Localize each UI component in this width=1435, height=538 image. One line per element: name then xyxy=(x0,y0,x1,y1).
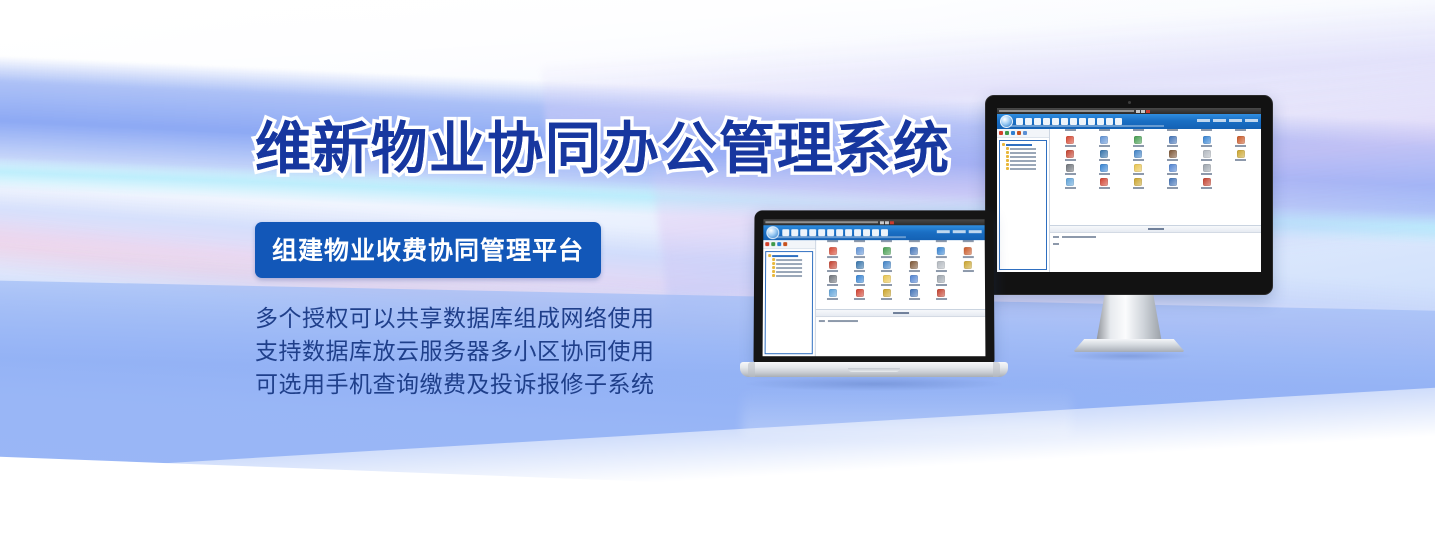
laptop-shadow xyxy=(746,377,1002,391)
module-icon-label xyxy=(909,298,920,300)
ribbon-link xyxy=(1213,119,1226,122)
module-icon xyxy=(910,289,918,297)
module-icon-label xyxy=(1065,145,1076,147)
ribbon-tab xyxy=(791,229,798,236)
module-icon-label xyxy=(1099,145,1110,147)
module-icon-cell[interactable] xyxy=(1157,178,1189,189)
add-icon xyxy=(1005,131,1009,135)
module-icon-cell[interactable] xyxy=(847,289,872,300)
ribbon-tab xyxy=(1070,118,1077,125)
module-icon xyxy=(1169,136,1177,144)
module-icon-label xyxy=(881,256,892,258)
module-icon-label xyxy=(1133,145,1144,147)
module-icon xyxy=(910,247,918,255)
tree-item xyxy=(768,262,810,265)
ribbon-link xyxy=(953,230,966,233)
module-icon-cell[interactable] xyxy=(901,289,926,300)
module-icon xyxy=(937,289,945,297)
laptop-app-window xyxy=(763,219,986,356)
module-icon-label xyxy=(1201,187,1212,189)
ribbon-link xyxy=(1197,119,1210,122)
module-icon-cell[interactable] xyxy=(1054,136,1086,147)
module-icon-cell[interactable] xyxy=(1122,136,1154,147)
ribbon-tab xyxy=(872,229,879,236)
module-icon xyxy=(1134,164,1142,172)
module-icon-cell xyxy=(1225,164,1257,175)
app-main-panel xyxy=(816,240,986,356)
ribbon-tab xyxy=(782,229,789,236)
module-icon-label xyxy=(936,256,947,258)
module-icon-cell[interactable] xyxy=(1088,150,1120,161)
background-bottom-white-strip xyxy=(0,494,1435,538)
module-icon-grid[interactable] xyxy=(816,242,985,309)
module-icon-label xyxy=(1167,145,1178,147)
module-icon-cell[interactable] xyxy=(820,261,845,272)
window-controls[interactable] xyxy=(880,221,894,224)
module-icon xyxy=(1100,136,1108,144)
module-icon-cell xyxy=(1157,192,1189,203)
list-row xyxy=(1050,233,1261,240)
device-mockup-group xyxy=(740,95,1210,415)
ribbon-right-links[interactable] xyxy=(937,230,982,233)
module-icon-label xyxy=(936,298,947,300)
desktop-monitor xyxy=(985,95,1273,295)
module-icon-label xyxy=(1201,145,1212,147)
module-icon-label xyxy=(1167,173,1178,175)
ribbon-tab xyxy=(845,229,852,236)
ribbon-right-links[interactable] xyxy=(1197,119,1258,122)
app-body xyxy=(997,129,1261,272)
close-icon xyxy=(1146,110,1150,113)
app-body xyxy=(763,240,986,356)
module-icon-cell[interactable] xyxy=(1225,150,1257,161)
edit-icon xyxy=(1011,131,1015,135)
module-icon-cell[interactable] xyxy=(820,275,845,286)
monitor-stand-neck xyxy=(1096,295,1162,343)
module-icon-cell[interactable] xyxy=(1054,178,1086,189)
ribbon-tab xyxy=(1097,118,1104,125)
module-icon xyxy=(829,289,837,297)
laptop-trackpad-notch xyxy=(848,368,900,372)
ribbon-tab xyxy=(827,229,834,236)
monitor-chin xyxy=(986,272,1272,294)
module-icon xyxy=(1203,136,1211,144)
close-icon xyxy=(890,221,894,224)
ribbon-tab xyxy=(818,229,825,236)
module-icon xyxy=(856,275,864,283)
ribbon-link xyxy=(1229,119,1242,122)
module-icon-label xyxy=(827,298,838,300)
module-icon xyxy=(883,275,891,283)
ribbon-tab-strip[interactable] xyxy=(782,229,888,236)
module-icon-label xyxy=(827,284,838,286)
add-icon xyxy=(771,242,775,246)
module-icon xyxy=(1134,136,1142,144)
module-icon-cell[interactable] xyxy=(847,261,872,272)
module-icon-cell[interactable] xyxy=(956,247,981,258)
tree-item xyxy=(768,274,810,277)
minimize-icon xyxy=(880,221,884,224)
module-icon-label xyxy=(1167,159,1178,161)
list-row xyxy=(816,317,985,324)
module-icon-cell[interactable] xyxy=(929,261,954,272)
delete-icon xyxy=(1017,131,1021,135)
ribbon-tab xyxy=(881,229,888,236)
sidebar-toolbar[interactable] xyxy=(997,129,1049,138)
module-icon xyxy=(1169,150,1177,158)
module-icon-label xyxy=(1065,159,1076,161)
module-icon-cell[interactable] xyxy=(820,247,845,258)
module-icon-cell[interactable] xyxy=(874,289,899,300)
module-icon-cell xyxy=(956,289,981,300)
module-icon xyxy=(910,261,918,269)
monitor-bezel xyxy=(985,95,1273,295)
module-icon-label xyxy=(1167,187,1178,189)
expand-icon xyxy=(1023,131,1027,135)
module-icon xyxy=(1237,150,1245,158)
module-icon-label xyxy=(963,270,974,272)
module-icon-label xyxy=(827,256,838,258)
module-icon xyxy=(856,247,864,255)
module-icon-cell[interactable] xyxy=(1122,150,1154,161)
ribbon-tab xyxy=(854,229,861,236)
module-icon-cell[interactable] xyxy=(1122,164,1154,175)
module-icon xyxy=(1134,178,1142,186)
module-icon xyxy=(883,261,891,269)
tree-item xyxy=(1002,143,1044,146)
module-icon xyxy=(937,275,945,283)
ribbon-subtitle xyxy=(777,236,905,238)
module-icon xyxy=(1066,164,1074,172)
module-icon-cell[interactable] xyxy=(901,247,926,258)
webcam-icon xyxy=(1128,101,1131,104)
module-icon-label xyxy=(854,256,865,258)
module-icon-label xyxy=(1235,145,1246,147)
module-icon xyxy=(937,261,945,269)
ribbon-tab xyxy=(809,229,816,236)
module-icon-cell[interactable] xyxy=(1191,136,1223,147)
tree-item xyxy=(768,254,810,257)
module-icon-label xyxy=(854,270,865,272)
app-ribbon-toolbar[interactable] xyxy=(997,114,1261,129)
module-icon-cell[interactable] xyxy=(847,247,872,258)
ribbon-link xyxy=(1245,119,1258,122)
module-icon-cell[interactable] xyxy=(1191,150,1223,161)
ribbon-tab xyxy=(836,229,843,236)
module-icon-label xyxy=(1201,173,1212,175)
list-header xyxy=(816,310,985,317)
laptop-screen xyxy=(763,219,986,356)
module-icon xyxy=(883,247,891,255)
window-controls[interactable] xyxy=(1136,110,1150,113)
module-icon xyxy=(964,247,972,255)
module-icon-cell[interactable] xyxy=(874,247,899,258)
ribbon-tab xyxy=(1115,118,1122,125)
module-icon xyxy=(1066,150,1074,158)
module-icon xyxy=(1100,150,1108,158)
module-icon-label xyxy=(1065,173,1076,175)
module-icon-label xyxy=(1065,187,1076,189)
module-icon xyxy=(829,247,837,255)
ribbon-tab xyxy=(1034,118,1041,125)
module-icon-cell[interactable] xyxy=(1191,164,1223,175)
module-icon xyxy=(829,261,837,269)
tree-item xyxy=(768,266,810,269)
module-icon-cell[interactable] xyxy=(874,275,899,286)
module-icon-label xyxy=(881,284,892,286)
module-icon-cell xyxy=(1191,192,1223,203)
module-icon-cell[interactable] xyxy=(1088,136,1120,147)
app-main-panel xyxy=(1050,129,1261,272)
maximize-icon xyxy=(1141,110,1145,113)
ribbon-link xyxy=(937,230,950,233)
module-icon-label xyxy=(909,284,920,286)
module-icon-label xyxy=(963,256,974,258)
promo-banner: 维新物业协同办公管理系统 维新物业协同办公管理系统 组建物业收费协同管理平台 多… xyxy=(0,0,1435,538)
app-bottom-list xyxy=(1050,225,1261,272)
module-icon-cell xyxy=(956,275,981,286)
tree-item xyxy=(1002,159,1044,162)
tree-item xyxy=(768,258,810,261)
module-icon-cell[interactable] xyxy=(929,275,954,286)
module-icon-cell[interactable] xyxy=(1054,150,1086,161)
module-icon-cell[interactable] xyxy=(1054,164,1086,175)
module-icon-cell xyxy=(1122,192,1154,203)
laptop-lid xyxy=(753,210,994,363)
module-icon-cell[interactable] xyxy=(1191,178,1223,189)
ribbon-tab xyxy=(1079,118,1086,125)
ribbon-subtitle xyxy=(1011,125,1164,127)
community-tree[interactable] xyxy=(765,251,814,354)
ribbon-tab xyxy=(1043,118,1050,125)
module-icon-label xyxy=(1133,159,1144,161)
ribbon-tab xyxy=(1088,118,1095,125)
tree-item xyxy=(1002,155,1044,158)
module-icon-cell[interactable] xyxy=(1088,178,1120,189)
list-header xyxy=(1050,226,1261,233)
module-icon-label xyxy=(1133,187,1144,189)
module-icon-cell[interactable] xyxy=(1157,150,1189,161)
module-icon xyxy=(856,261,864,269)
module-icon-cell[interactable] xyxy=(847,275,872,286)
module-icon-label xyxy=(1235,159,1246,161)
ribbon-tab xyxy=(800,229,807,236)
tree-item xyxy=(1002,167,1044,170)
refresh-icon xyxy=(765,242,769,246)
module-icon-cell[interactable] xyxy=(901,261,926,272)
ribbon-tab xyxy=(1025,118,1032,125)
module-icon xyxy=(1100,178,1108,186)
ribbon-tab xyxy=(863,229,870,236)
app-title-text xyxy=(765,221,878,223)
module-icon xyxy=(1134,150,1142,158)
module-icon-label xyxy=(909,270,920,272)
module-icon xyxy=(1203,178,1211,186)
module-icon-label xyxy=(827,270,838,272)
module-icon-label xyxy=(1099,159,1110,161)
module-icon-label xyxy=(1099,173,1110,175)
module-icon-cell[interactable] xyxy=(1122,178,1154,189)
module-icon-label xyxy=(854,298,865,300)
module-icon xyxy=(1066,178,1074,186)
edit-icon xyxy=(777,242,781,246)
module-icon-cell[interactable] xyxy=(956,261,981,272)
module-icon xyxy=(910,275,918,283)
ribbon-tab xyxy=(1016,118,1023,125)
module-icon-grid[interactable] xyxy=(1050,131,1261,225)
monitor-screen xyxy=(997,108,1261,272)
module-icon-cell[interactable] xyxy=(1157,164,1189,175)
ribbon-tab xyxy=(1106,118,1113,125)
app-title-text xyxy=(999,110,1134,112)
module-icon xyxy=(1169,164,1177,172)
module-icon-label xyxy=(854,284,865,286)
module-icon-label xyxy=(1099,187,1110,189)
ribbon-tab xyxy=(1052,118,1059,125)
module-icon-cell xyxy=(1225,192,1257,203)
sidebar-toolbar[interactable] xyxy=(763,240,815,249)
module-icon xyxy=(1066,136,1074,144)
module-icon-cell[interactable] xyxy=(929,247,954,258)
list-row xyxy=(1050,240,1261,247)
module-icon-cell[interactable] xyxy=(1225,136,1257,147)
refresh-icon xyxy=(999,131,1003,135)
module-icon xyxy=(964,261,972,269)
module-icon-label xyxy=(909,256,920,258)
module-icon xyxy=(1203,164,1211,172)
ribbon-link xyxy=(969,230,982,233)
module-icon-label xyxy=(936,270,947,272)
module-icon xyxy=(829,275,837,283)
module-icon xyxy=(1169,178,1177,186)
module-icon-cell xyxy=(1054,192,1086,203)
module-icon-cell[interactable] xyxy=(929,289,954,300)
module-icon-label xyxy=(881,270,892,272)
module-icon xyxy=(1237,136,1245,144)
module-icon-cell xyxy=(1088,192,1120,203)
tree-item xyxy=(1002,147,1044,150)
module-icon-cell[interactable] xyxy=(1157,136,1189,147)
tree-item xyxy=(1002,163,1044,166)
module-icon xyxy=(856,289,864,297)
module-icon xyxy=(1203,150,1211,158)
module-icon-cell[interactable] xyxy=(820,289,845,300)
tree-item xyxy=(1002,151,1044,154)
app-sidebar xyxy=(763,240,817,356)
module-icon-label xyxy=(1133,173,1144,175)
module-icon xyxy=(937,247,945,255)
module-icon-cell[interactable] xyxy=(901,275,926,286)
module-icon xyxy=(883,289,891,297)
app-bottom-list xyxy=(816,309,986,356)
module-icon-label xyxy=(881,298,892,300)
laptop-computer xyxy=(740,210,1008,395)
tree-item xyxy=(768,270,810,273)
maximize-icon xyxy=(885,221,889,224)
ribbon-tab xyxy=(1061,118,1068,125)
module-icon-label xyxy=(936,284,947,286)
app-ribbon-toolbar[interactable] xyxy=(763,225,984,240)
module-icon-cell xyxy=(1225,178,1257,189)
monitor-app-window xyxy=(997,108,1261,272)
delete-icon xyxy=(783,242,787,246)
module-icon-cell[interactable] xyxy=(874,261,899,272)
minimize-icon xyxy=(1136,110,1140,113)
monitor-shadow xyxy=(1067,351,1191,361)
module-icon-cell[interactable] xyxy=(1088,164,1120,175)
module-icon-label xyxy=(1201,159,1212,161)
subtitle-badge: 组建物业收费协同管理平台 xyxy=(255,222,601,278)
ribbon-tab-strip[interactable] xyxy=(1016,118,1122,125)
module-icon xyxy=(1100,164,1108,172)
